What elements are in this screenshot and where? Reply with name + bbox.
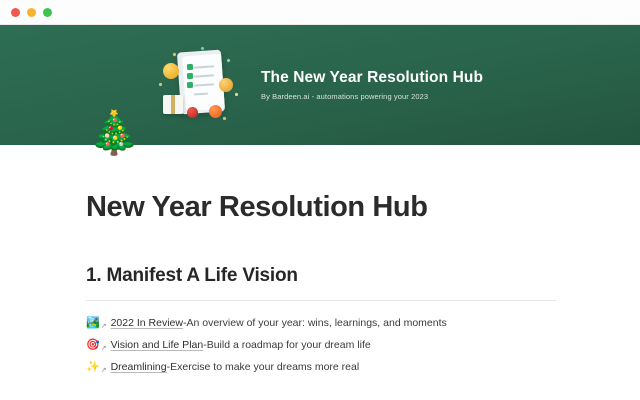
- cover-subtitle: By Bardeen.ai - automations powering you…: [261, 92, 483, 101]
- maximize-button[interactable]: [43, 8, 52, 17]
- cover-text-block: The New Year Resolution Hub By Bardeen.a…: [261, 69, 483, 102]
- page-title[interactable]: New Year Resolution Hub: [86, 191, 554, 224]
- target-dart-icon: 🎯: [86, 340, 100, 351]
- checklist-illustration-icon: [157, 45, 243, 125]
- app-window: The New Year Resolution Hub By Bardeen.a…: [0, 0, 640, 400]
- list-item-link[interactable]: Vision and Life Plan: [111, 339, 204, 351]
- landscape-photo-icon: 🏞️: [86, 318, 100, 329]
- list-item-description: Build a roadmap for your dream life: [207, 339, 371, 351]
- window-titlebar: [0, 0, 640, 25]
- external-link-arrow-icon: ↗: [101, 366, 107, 374]
- resolution-list: 🏞️ ↗ 2022 In Review - An overview of you…: [86, 312, 554, 378]
- section-divider: [86, 300, 556, 301]
- list-item[interactable]: 🏞️ ↗ 2022 In Review - An overview of you…: [86, 312, 554, 334]
- cover-title: The New Year Resolution Hub: [261, 69, 483, 88]
- list-item-link[interactable]: 2022 In Review: [111, 317, 183, 329]
- close-button[interactable]: [11, 8, 20, 17]
- page-icon-christmas-tree-icon[interactable]: 🎄: [88, 112, 140, 154]
- external-link-arrow-icon: ↗: [101, 344, 107, 352]
- page-content: New Year Resolution Hub 1. Manifest A Li…: [0, 145, 640, 378]
- external-link-arrow-icon: ↗: [101, 322, 107, 330]
- sparkles-icon: ✨: [86, 362, 100, 373]
- minimize-button[interactable]: [27, 8, 36, 17]
- list-item[interactable]: 🎯 ↗ Vision and Life Plan - Build a roadm…: [86, 334, 554, 356]
- list-item-description: An overview of your year: wins, learning…: [186, 317, 446, 329]
- list-item[interactable]: ✨ ↗ Dreamlining - Exercise to make your …: [86, 356, 554, 378]
- section-heading[interactable]: 1. Manifest A Life Vision: [86, 265, 554, 287]
- list-item-description: Exercise to make your dreams more real: [170, 361, 359, 373]
- list-item-link[interactable]: Dreamlining: [111, 361, 167, 373]
